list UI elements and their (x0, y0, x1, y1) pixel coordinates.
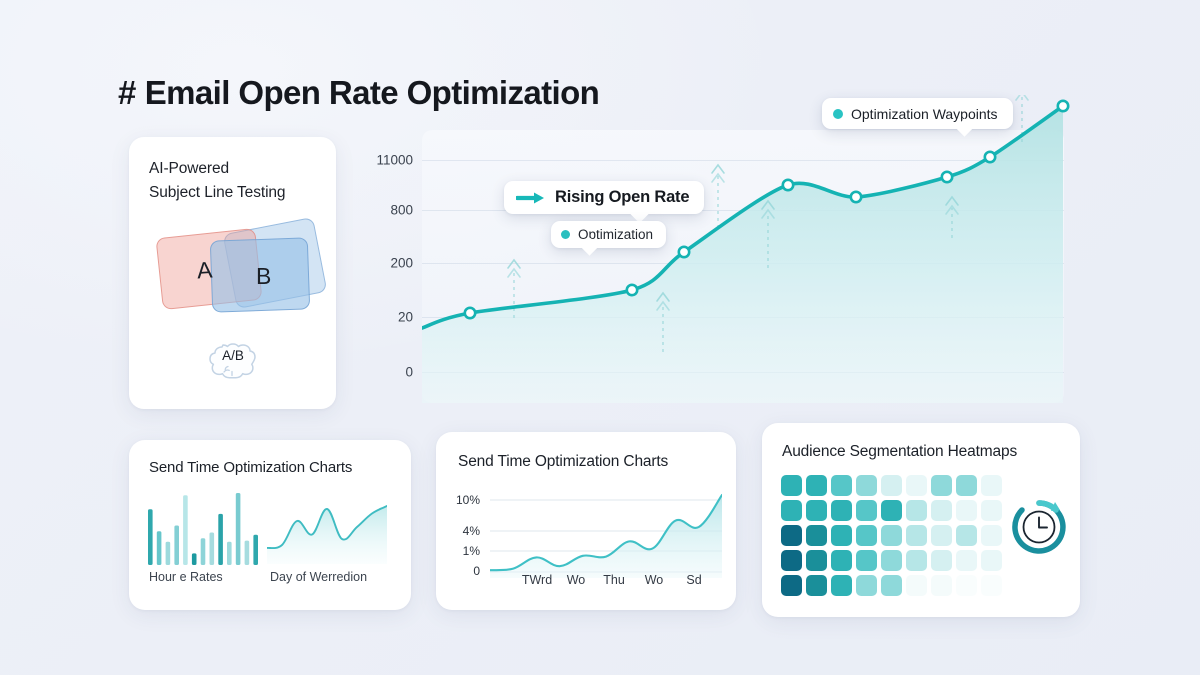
heatmap-cell[interactable] (931, 475, 952, 496)
screenshot-root: #Email Open Rate Optimization AI-Powered… (0, 0, 1200, 675)
heatmap-cell[interactable] (781, 575, 802, 596)
bar-chart-label: Hour e Rates (149, 570, 223, 584)
heatmap-cell[interactable] (806, 525, 827, 546)
arrow-right-icon (516, 191, 546, 205)
ai-subject-line-card[interactable]: AI-Powered Subject Line Testing A B A/B (129, 137, 336, 409)
mini-x-tick: TWrd (522, 573, 552, 587)
ai-card-title-line2: Subject Line Testing (149, 181, 324, 205)
tooltip-label: Rising Open Rate (555, 188, 689, 207)
page-title-hash: # (118, 74, 136, 111)
y-tick: 200 (390, 256, 413, 271)
mini-area-chart (267, 502, 387, 564)
heatmap-cell[interactable] (906, 500, 927, 521)
heatmap-cell[interactable] (831, 550, 852, 571)
heatmap-cell[interactable] (881, 475, 902, 496)
heatmap-cell[interactable] (906, 525, 927, 546)
y-tick: 20 (398, 310, 413, 325)
heatmap-cell[interactable] (806, 475, 827, 496)
variant-b-letter: B (256, 263, 271, 290)
heatmap-cell[interactable] (831, 475, 852, 496)
heatmap-cell[interactable] (981, 475, 1002, 496)
heatmap-cell[interactable] (981, 575, 1002, 596)
heatmap-cell[interactable] (856, 550, 877, 571)
mini-y-tick: 0 (436, 564, 480, 578)
main-chart-series (422, 95, 1072, 410)
heatmap-cell[interactable] (931, 575, 952, 596)
heatmap-cell[interactable] (831, 575, 852, 596)
y-tick: 0 (405, 365, 413, 380)
dot-icon (833, 109, 843, 119)
send-time-card-center[interactable]: Send Time Optimization Charts 10% 4% 1% … (436, 432, 736, 610)
tooltip-rising-open-rate[interactable]: Rising Open Rate (504, 181, 704, 214)
mini-bar-chart (148, 493, 258, 565)
heatmap-cell[interactable] (831, 525, 852, 546)
heatmap-cell[interactable] (881, 500, 902, 521)
heatmap-cell[interactable] (806, 550, 827, 571)
card-title: Send Time Optimization Charts (458, 453, 668, 471)
heatmap-cell[interactable] (956, 475, 977, 496)
mini-x-tick: Wo (645, 573, 664, 587)
heatmap-cell[interactable] (806, 575, 827, 596)
dot-icon (561, 230, 570, 239)
send-time-card-left[interactable]: Send Time Optimization Charts Hour e Rat… (129, 440, 411, 610)
tooltip-label: Optimization Waypoints (851, 106, 998, 122)
card-title: Audience Segmentation Heatmaps (782, 443, 1017, 461)
y-tick: 800 (390, 203, 413, 218)
y-tick: 11000 (376, 153, 413, 168)
heatmap-cell[interactable] (956, 525, 977, 546)
variant-a-letter: A (196, 256, 213, 284)
heatmap-cell[interactable] (981, 550, 1002, 571)
heatmap-cell[interactable] (831, 500, 852, 521)
clock-refresh-icon (1010, 498, 1068, 561)
tooltip-optimization-waypoints[interactable]: Optimization Waypoints (822, 98, 1013, 129)
heatmap-cell[interactable] (781, 475, 802, 496)
heatmap-cell[interactable] (856, 500, 877, 521)
heatmap-cell[interactable] (856, 475, 877, 496)
heatmap-cell[interactable] (881, 575, 902, 596)
ai-card-title: AI-Powered Subject Line Testing (149, 157, 324, 205)
heatmap-cell[interactable] (781, 525, 802, 546)
heatmap-cell[interactable] (856, 575, 877, 596)
mini-y-tick: 4% (436, 524, 480, 538)
brain-icon: A/B (206, 335, 260, 392)
card-title: Send Time Optimization Charts (149, 459, 352, 476)
heatmap-cell[interactable] (781, 550, 802, 571)
ab-test-illustration: A B (139, 227, 329, 322)
heatmap-cell[interactable] (981, 525, 1002, 546)
ai-card-title-line1: AI-Powered (149, 157, 324, 181)
heatmap-cell[interactable] (931, 550, 952, 571)
area-chart-label: Day of Werredion (270, 570, 367, 584)
heatmap-cell[interactable] (981, 500, 1002, 521)
mini-y-tick: 10% (436, 493, 480, 507)
heatmap-cell[interactable] (931, 525, 952, 546)
mini-x-tick: Wo (567, 573, 586, 587)
heatmap-cell[interactable] (956, 500, 977, 521)
main-chart-y-axis: 11000 800 200 20 0 (355, 130, 413, 403)
heatmap-cell[interactable] (806, 500, 827, 521)
mini-y-tick: 1% (436, 544, 480, 558)
audience-heatmap-card[interactable]: Audience Segmentation Heatmaps (762, 423, 1080, 617)
heatmap-cell[interactable] (881, 550, 902, 571)
send-time-area-chart (490, 484, 722, 578)
mini-x-tick: Thu (603, 573, 625, 587)
tooltip-optimization[interactable]: Optimization (551, 221, 666, 248)
heatmap-cell[interactable] (906, 575, 927, 596)
heatmap-cell[interactable] (956, 575, 977, 596)
heatmap-cell[interactable] (906, 550, 927, 571)
heatmap-cell[interactable] (956, 550, 977, 571)
heatmap-cell[interactable] (906, 475, 927, 496)
brain-ab-label: A/B (222, 348, 244, 363)
heatmap-cell[interactable] (781, 500, 802, 521)
heatmap-cell[interactable] (881, 525, 902, 546)
heatmap-grid[interactable] (781, 475, 1002, 596)
heatmap-cell[interactable] (931, 500, 952, 521)
mini-x-tick: Sd (686, 573, 701, 587)
heatmap-cell[interactable] (856, 525, 877, 546)
